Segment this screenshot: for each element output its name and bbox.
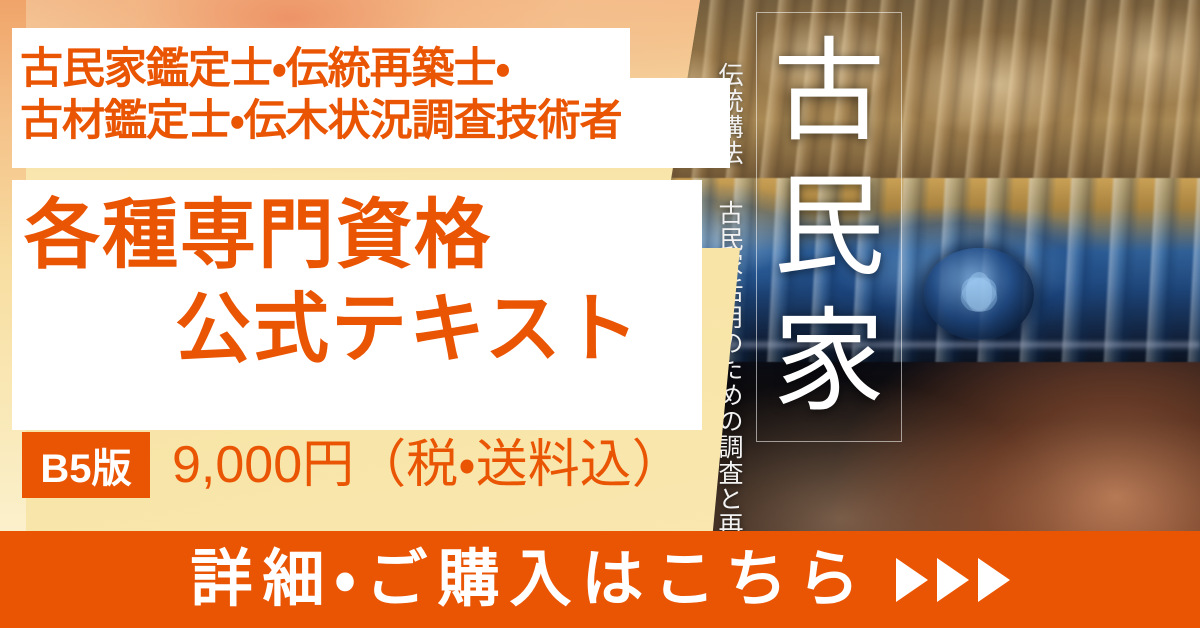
format-badge: B5版: [22, 432, 150, 498]
cta-label: 詳細・ご購入はこちら: [190, 549, 869, 611]
price-label: 9,000円（税・送料込）: [172, 434, 684, 496]
chevron-right-icon: [896, 558, 928, 602]
promo-banner: 古 民 家 伝統構法 古民家活用のための調査と再生の 古民家鑑定士・伝統再築士・…: [0, 0, 1200, 628]
chevron-right-icon: [978, 558, 1010, 602]
headline-line-1: 各種専門資格: [24, 198, 492, 274]
headline-line-2: 公式テキスト: [175, 292, 641, 368]
cover-title-char-1: 古: [773, 37, 885, 149]
cover-title-char-3: 家: [773, 307, 885, 419]
kicker-line-1: 古民家鑑定士・伝統再築士・: [20, 48, 509, 91]
cta-bar[interactable]: 詳細・ご購入はこちら: [0, 531, 1200, 628]
cover-title-char-2: 民: [773, 172, 885, 284]
chevron-right-icon: [937, 558, 969, 602]
cover-title: 古 民 家: [756, 14, 902, 442]
kicker-line-2: 古材鑑定士・伝木状況調査技術者: [20, 100, 622, 143]
cta-arrow-group: [896, 558, 1010, 602]
